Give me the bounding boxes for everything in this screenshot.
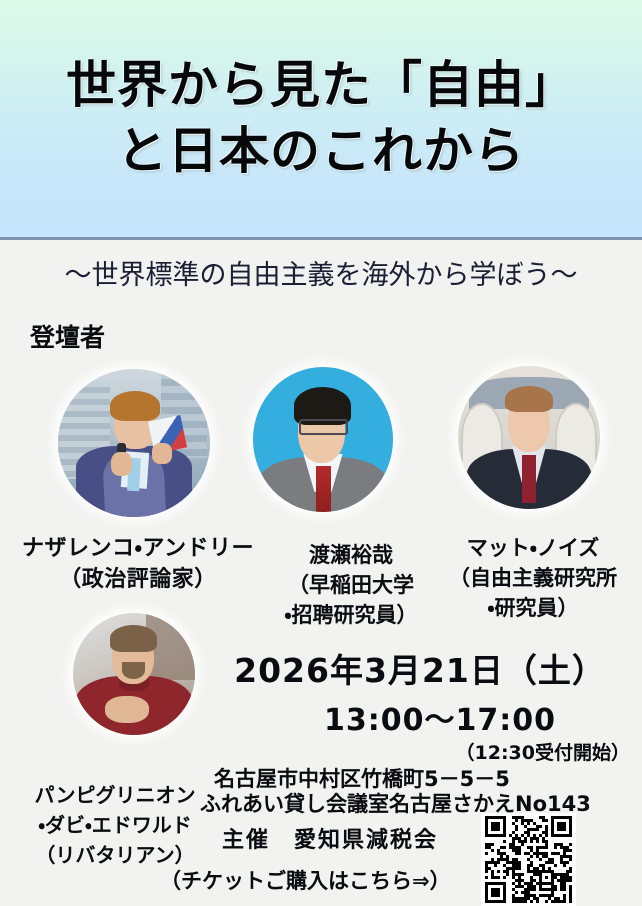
speaker-caption-pampiglinion: パンピグリニオン ・ダビ・エドワルド （リバタリアン） [0, 780, 230, 870]
qr-code-icon [484, 816, 573, 903]
ticket-purchase-note: （チケットご購入はこちら⇒） [160, 866, 490, 896]
venue-address: 名古屋市中村区竹橋町5－5－5 [214, 765, 634, 793]
speaker-caption-matt-noise: マット・ノイズ （自由主義研究所 ・研究員） [428, 533, 638, 623]
speaker-photo-matt-noise [458, 366, 600, 509]
photo-hair [110, 391, 160, 421]
photo-beard [122, 662, 145, 679]
photo-tie [316, 466, 331, 512]
speaker-caption-nazarenko: ナザレンコ・アンドリー （政治評論家） [8, 533, 268, 595]
speaker-photo-watase [253, 367, 393, 512]
event-organizer: 主催 愛知県減税会 [222, 826, 522, 856]
event-date: 2026年3月21日（土） [210, 650, 630, 692]
photo-hair [110, 625, 158, 652]
event-time: 13:00〜17:00 [250, 702, 630, 740]
event-reception-time: （12:30受付開始） [300, 740, 630, 766]
photo-left-hand [111, 452, 132, 476]
page-title: 世界から見た「自由」 と日本のこれから [0, 52, 642, 184]
speakers-section-heading: 登壇者 [30, 322, 105, 354]
speaker-photo-pampiglinion [73, 613, 195, 735]
photo-right-hand [152, 443, 172, 464]
event-poster: 世界から見た「自由」 と日本のこれから 〜世界標準の自由主義を海外から学ぼう〜 … [0, 0, 642, 906]
photo-hair [505, 386, 553, 412]
speaker-caption-watase: 渡瀬裕哉 （早稲田大学 ・招聘研究員） [266, 540, 436, 630]
photo-tie [522, 455, 536, 504]
photo-glasses [299, 419, 348, 435]
speaker-photo-nazarenko [58, 369, 210, 517]
photo-hands [105, 696, 149, 723]
ticket-purchase-qr-code[interactable] [481, 813, 576, 906]
header-divider-rule [0, 237, 642, 240]
poster-subtitle: 〜世界標準の自由主義を海外から学ぼう〜 [0, 258, 642, 294]
